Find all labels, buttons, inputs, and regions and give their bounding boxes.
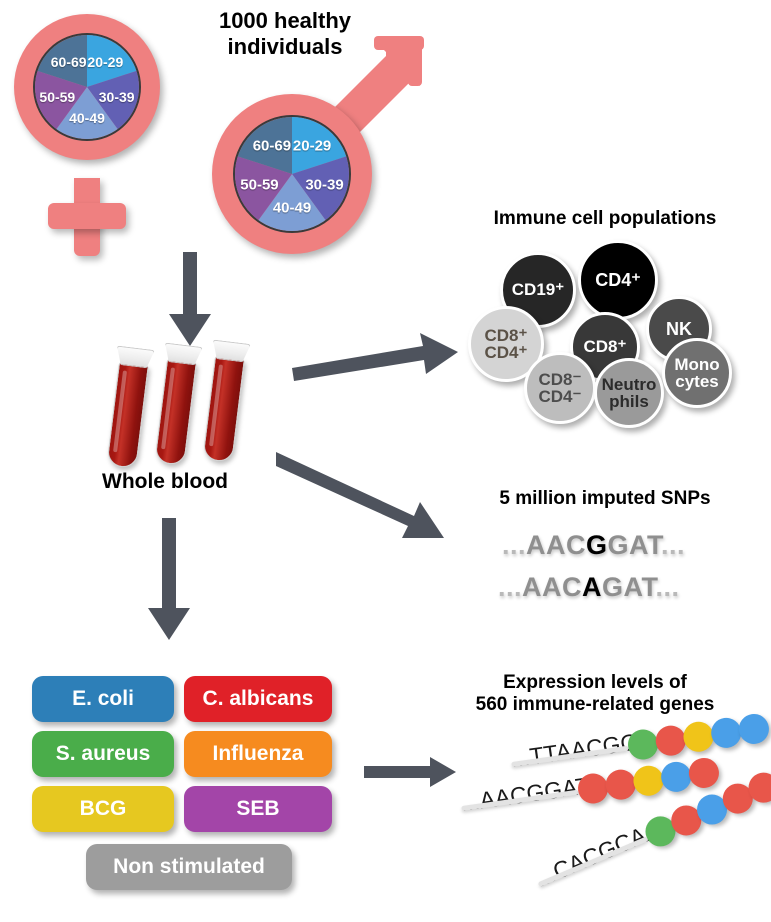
strand-bead	[682, 720, 716, 754]
strand-bead	[659, 760, 693, 794]
strand-bead	[737, 712, 771, 746]
figure-canvas: 1000 healthy individuals 20-2930-3940-49…	[0, 0, 771, 922]
strand-bead	[687, 756, 721, 790]
strand-bead	[654, 724, 688, 758]
expression-strands-group: ...TTAACGG...AACGGAT...CACGCAA	[0, 0, 771, 922]
strand-bead	[632, 764, 666, 798]
strand-bead	[604, 768, 638, 802]
strand-bead	[709, 716, 743, 750]
